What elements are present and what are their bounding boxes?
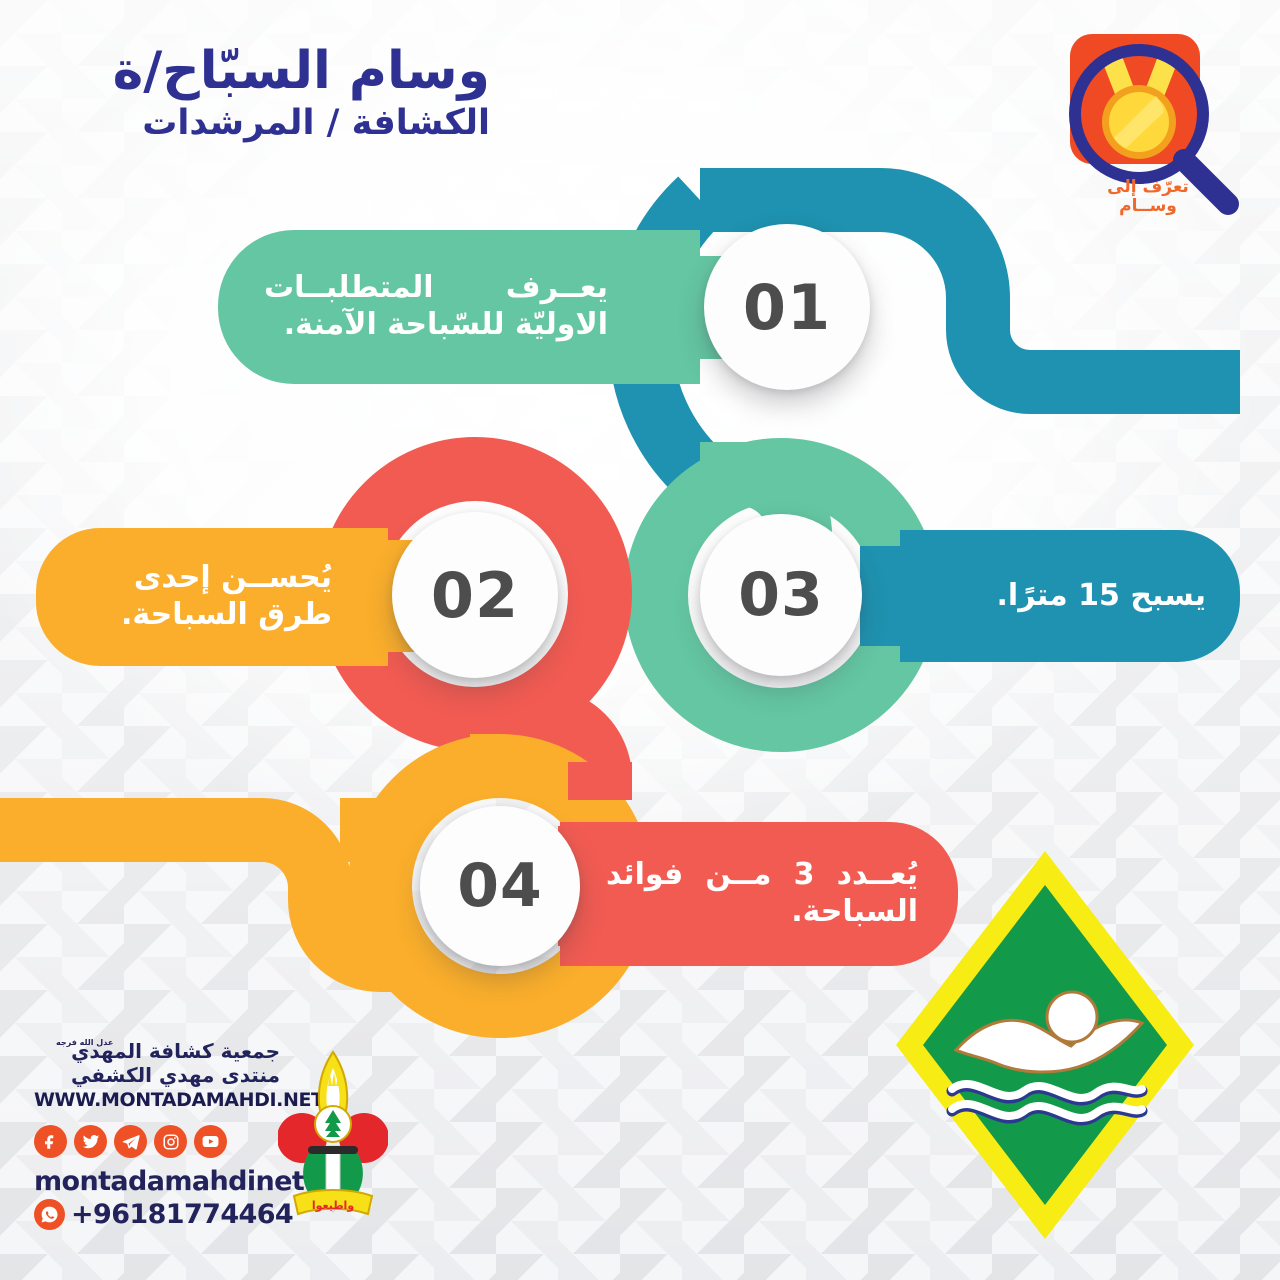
phone-number: +96181774464	[71, 1199, 293, 1230]
page-title: وسام السبّاح/ة	[113, 44, 490, 99]
title-block: وسام السبّاح/ة الكشافة / المرشدات	[113, 44, 490, 143]
instagram-icon[interactable]	[154, 1125, 187, 1158]
step-number-04: 04	[420, 806, 580, 966]
org-website[interactable]: WWW.MONTADAMAHDI.NET	[34, 1089, 280, 1111]
org-motto: عدل الله فرجه	[56, 1038, 113, 1047]
footer: عدل الله فرجه جمعية كشافة المهدي منتدى م…	[34, 1040, 374, 1260]
youtube-icon[interactable]	[194, 1125, 227, 1158]
step-text-02: يُحســن إحدى طرق السباحة.	[70, 560, 332, 633]
step-pill-03: يسبح 15 مترًا.	[900, 530, 1240, 662]
step-text-03: يسبح 15 مترًا.	[944, 578, 1206, 615]
scout-scroll-text: واطيعوا	[312, 1199, 354, 1212]
swimmer-badge-icon	[890, 845, 1200, 1245]
swimming-proficiency-badge	[890, 845, 1200, 1245]
step-pill-02: يُحســن إحدى طرق السباحة.	[36, 528, 388, 666]
scout-fleur-de-lis-emblem: واطيعوا	[278, 1046, 388, 1226]
facebook-icon[interactable]	[34, 1125, 67, 1158]
step-number-02: 02	[392, 512, 558, 678]
page-subtitle: الكشافة / المرشدات	[113, 103, 490, 143]
twitter-icon[interactable]	[74, 1125, 107, 1158]
organization-names: عدل الله فرجه جمعية كشافة المهدي منتدى م…	[34, 1040, 280, 1111]
brand-caption-line2: وســام	[1060, 197, 1236, 216]
step-pill-01: يعــرف المتطلبــات الاوليّة للسّباحة الآ…	[218, 230, 700, 384]
org-name-line2: منتدى مهدي الكشفي	[34, 1064, 280, 1088]
step-number-03: 03	[700, 514, 862, 676]
brand-caption-line1: تعرّف إلى	[1060, 178, 1236, 197]
brand-logo: تعرّف إلى وســام	[1060, 26, 1260, 236]
step-text-01: يعــرف المتطلبــات الاوليّة للسّباحة الآ…	[264, 270, 608, 343]
telegram-icon[interactable]	[114, 1125, 147, 1158]
step-text-04: يُعــدد 3 مــن فوائد السباحة.	[606, 857, 918, 930]
brand-logo-caption: تعرّف إلى وســام	[1060, 178, 1236, 216]
step-number-01: 01	[704, 224, 870, 390]
whatsapp-icon[interactable]	[34, 1199, 65, 1230]
